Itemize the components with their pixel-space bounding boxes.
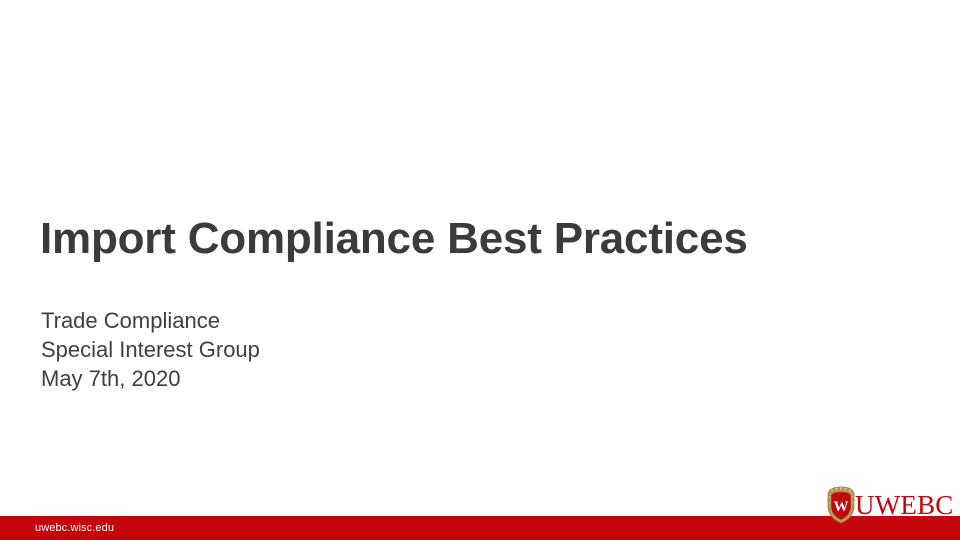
subtitle-line-1: Trade Compliance: [41, 307, 641, 336]
subtitle-line-2: Special Interest Group: [41, 336, 641, 365]
title-block: Import Compliance Best Practices: [40, 214, 900, 263]
uwebc-logo: W UWEBC: [826, 485, 954, 525]
page-title: Import Compliance Best Practices: [40, 214, 900, 263]
subtitle-block: Trade Compliance Special Interest Group …: [41, 307, 641, 393]
subtitle-line-3: May 7th, 2020: [41, 365, 641, 394]
footer-url-text: uwebc.wisc.edu: [35, 522, 114, 534]
footer-bar: uwebc.wisc.edu: [0, 516, 960, 540]
svg-text:W: W: [834, 499, 849, 515]
presentation-slide: Import Compliance Best Practices Trade C…: [0, 0, 960, 540]
uwebc-wordmark: UWEBC: [855, 492, 954, 519]
uw-crest-shield-icon: W: [826, 486, 856, 524]
